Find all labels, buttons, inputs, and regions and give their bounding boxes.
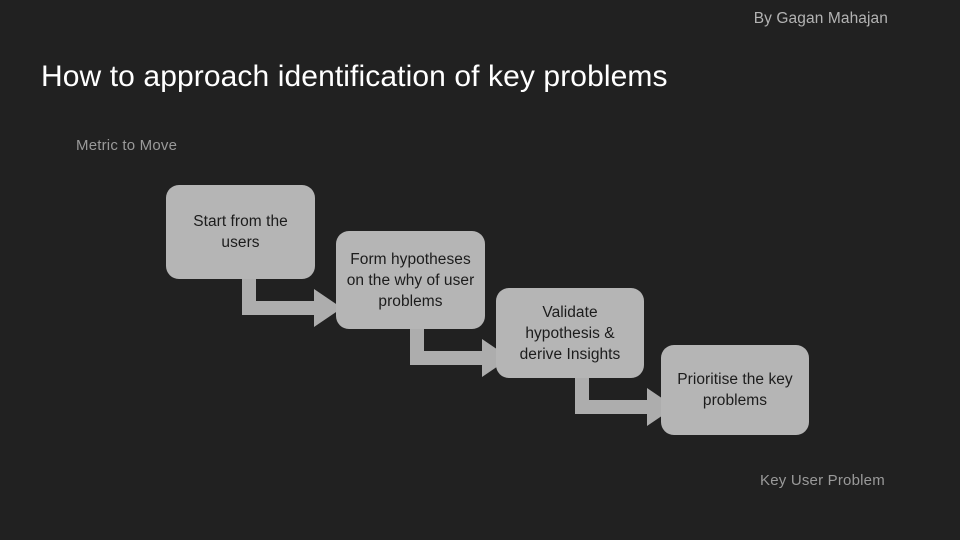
flow-step-1-label: Start from the users: [175, 211, 306, 253]
flow-step-1[interactable]: Start from the users: [166, 185, 315, 279]
slide-canvas: By Gagan Mahajan How to approach identif…: [0, 0, 960, 540]
process-flow-diagram: Start from the users Form hypotheses on …: [0, 0, 960, 540]
flow-step-3[interactable]: Validate hypothesis & derive Insights: [496, 288, 644, 378]
flow-step-4-label: Prioritise the key problems: [670, 369, 800, 411]
flow-step-4[interactable]: Prioritise the key problems: [661, 345, 809, 435]
flow-step-3-label: Validate hypothesis & derive Insights: [505, 302, 635, 365]
flow-step-2-label: Form hypotheses on the why of user probl…: [345, 249, 476, 312]
flow-step-2[interactable]: Form hypotheses on the why of user probl…: [336, 231, 485, 329]
flow-arrow-1: [238, 276, 348, 330]
